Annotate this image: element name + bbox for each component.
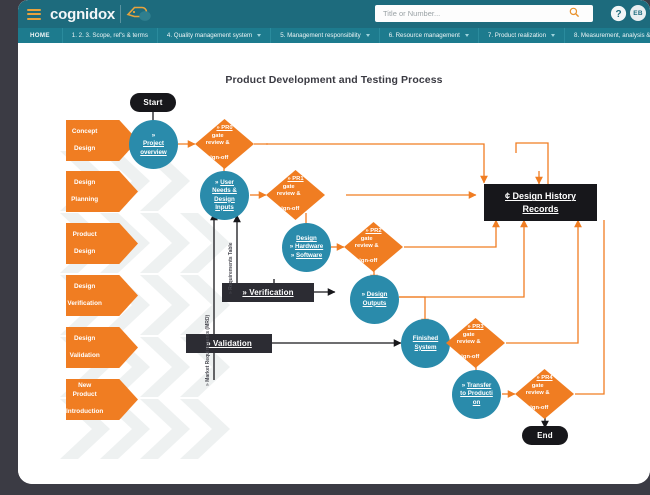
- records-line-1: ¢ Design History: [505, 191, 576, 201]
- nav-item-label: 7. Product realization: [488, 32, 546, 39]
- activity-line-2: overview: [140, 149, 166, 156]
- phase-line-2: Design: [66, 145, 103, 154]
- phase-line-1: New Product: [66, 382, 103, 399]
- nav-item-label: 6. Resource management: [389, 32, 460, 39]
- nav-item-management-responsibility[interactable]: 5. Management responsibility: [271, 28, 379, 43]
- stage-box-verification: » Verification: [222, 283, 314, 302]
- desktop-backdrop: cognidox: [0, 0, 650, 495]
- nav-item-product-realization[interactable]: 7. Product realization: [479, 28, 565, 43]
- chevron-down-icon: [366, 34, 370, 37]
- nav-item-quality-management-system[interactable]: 4. Quality management system: [158, 28, 271, 43]
- activity-line-3: Design: [214, 196, 235, 203]
- phase-line-2: Verification: [66, 300, 103, 309]
- phase-line-1: Product: [66, 231, 103, 240]
- app-window: cognidox: [18, 0, 650, 484]
- activity-finished-system: Finished System: [401, 319, 450, 368]
- phase-line-1: Design: [66, 283, 103, 292]
- phase-line-2: Planning: [66, 196, 103, 205]
- cognidox-tag-logo: [125, 4, 151, 24]
- gate-line-2: gate review &: [355, 236, 379, 251]
- activity-transfer-to-production: » Transfer to Producti on: [452, 370, 501, 419]
- search-input[interactable]: [381, 8, 567, 19]
- start-terminator: Start: [130, 93, 176, 112]
- phase-line-2: Introduction: [66, 408, 103, 417]
- diagram-canvas: Product Development and Testing Process …: [18, 43, 650, 484]
- gate-line-2: gate review &: [206, 133, 230, 148]
- requirements-table-label: » Requirements Table: [228, 242, 234, 294]
- avatar[interactable]: EB: [630, 5, 646, 21]
- gate-line-2: gate review &: [277, 184, 301, 199]
- activity-user-needs-design-inputs: » User Needs & Design Inputs: [200, 171, 249, 220]
- bullet-glyph: »: [290, 243, 293, 250]
- bullet-glyph: »: [215, 179, 218, 186]
- nav-item-label: 5. Management responsibility: [280, 32, 360, 39]
- bullet-glyph: »: [152, 132, 155, 139]
- activity-line-1: Design: [296, 235, 317, 242]
- gate-code: » PR0: [216, 125, 232, 131]
- help-circle-icon[interactable]: ?: [610, 5, 627, 27]
- nav-item-label: HOME: [30, 32, 50, 39]
- activity-line-2: Needs &: [212, 187, 237, 194]
- phase-line-1: Concept: [66, 128, 103, 137]
- design-history-records: ¢ Design History Records: [484, 184, 597, 221]
- activity-design-hardware-software: Design » Hardware » Software: [282, 223, 331, 272]
- activity-line-2: System: [414, 344, 436, 351]
- gate-line-2: gate review &: [526, 383, 550, 398]
- activity-project-overview: » Project overview: [129, 120, 178, 169]
- activity-line-1: Design: [367, 291, 388, 298]
- phase-line-1: Design: [66, 335, 103, 344]
- activity-line-1: User: [220, 179, 234, 186]
- activity-line-1: Transfer: [467, 382, 491, 389]
- stage-box-label: » Verification: [242, 288, 293, 297]
- gate-code: » PR4: [536, 375, 552, 381]
- stage-box-label: » Validation: [206, 339, 252, 348]
- bullet-glyph: »: [462, 382, 465, 389]
- phase-line-2: Validation: [66, 352, 103, 361]
- nav-item-resource-management[interactable]: 6. Resource management: [380, 28, 479, 43]
- activity-design-outputs: » Design Outputs: [350, 275, 399, 324]
- gate-code: » PR3: [467, 324, 483, 330]
- nav-item-label: 8. Measurement, analysis & improvement: [574, 32, 650, 39]
- main-nav: HOME 1. 2. 3. Scope, ref's & terms 4. Qu…: [18, 28, 650, 43]
- nav-item-home[interactable]: HOME: [18, 28, 63, 43]
- nav-item-scope[interactable]: 1. 2. 3. Scope, ref's & terms: [63, 28, 158, 43]
- bullet-glyph: »: [291, 252, 294, 259]
- nav-item-measurement-analysis-improvement[interactable]: 8. Measurement, analysis & improvement: [565, 28, 650, 43]
- brand-name: cognidox: [50, 6, 115, 23]
- phase-line-2: Design: [66, 248, 103, 257]
- bullet-glyph: »: [362, 291, 365, 298]
- brand-divider: [120, 5, 121, 23]
- end-terminator: End: [522, 426, 568, 445]
- activity-line-2: to Producti: [460, 390, 493, 397]
- gate-code: » PR2: [365, 228, 381, 234]
- phase-line-1: Design: [66, 179, 103, 188]
- search-box[interactable]: [375, 5, 593, 22]
- stage-box-validation: » Validation: [186, 334, 272, 353]
- activity-line-3: on: [473, 399, 481, 406]
- page-title: Product Development and Testing Process: [18, 74, 650, 86]
- chevron-down-icon: [551, 34, 555, 37]
- records-line-2: Records: [522, 204, 558, 214]
- activity-line-3: Software: [296, 252, 322, 259]
- svg-text:?: ?: [615, 9, 621, 20]
- top-bar: cognidox: [18, 0, 650, 28]
- chevron-down-icon: [257, 34, 261, 37]
- gate-line-2: gate review &: [457, 332, 481, 347]
- activity-line-1: Project: [143, 140, 164, 147]
- hamburger-icon[interactable]: [27, 9, 41, 20]
- activity-line-1: Finished: [413, 335, 438, 342]
- activity-line-4: Inputs: [215, 204, 234, 211]
- nav-item-label: 1. 2. 3. Scope, ref's & terms: [72, 32, 148, 39]
- activity-line-2: Hardware: [295, 243, 323, 250]
- search-icon[interactable]: [569, 5, 580, 23]
- activity-line-2: Outputs: [363, 300, 387, 307]
- market-requirements-label: » Market Requirements (MRD): [205, 315, 211, 386]
- nav-item-label: 4. Quality management system: [167, 32, 252, 39]
- gate-code: » PR1: [287, 176, 303, 182]
- chevron-down-icon: [465, 34, 469, 37]
